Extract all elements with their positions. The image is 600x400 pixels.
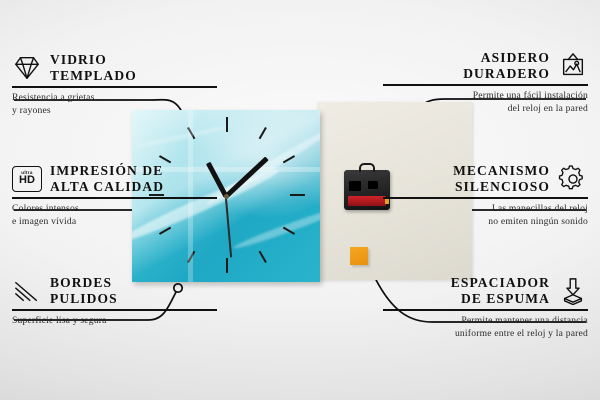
feature-vidrio-templado: VIDRIO TEMPLADO Resistencia a grietas y …	[12, 52, 217, 118]
infographic-canvas: VIDRIO TEMPLADO Resistencia a grietas y …	[0, 0, 600, 400]
feature-title: IMPRESIÓN DE ALTA CALIDAD	[50, 163, 164, 194]
feature-desc-line1: Superficie lisa y segura	[12, 315, 217, 328]
feature-desc-line1: Colores intensos	[12, 203, 217, 216]
foam-spacer-piece	[350, 247, 368, 265]
feature-description: Resistencia a grietas y rayones	[12, 92, 217, 118]
feature-title: MECANISMO SILENCIOSO	[453, 163, 550, 194]
movement-hanger	[359, 163, 375, 172]
clock-tick	[226, 117, 228, 132]
feature-description: Las manecillas del reloj no emiten ningú…	[383, 203, 588, 229]
feature-desc-line1: Permite una fácil instalación	[383, 90, 588, 103]
polished-edges-icon	[12, 277, 42, 305]
feature-title-line2: DE ESPUMA	[451, 291, 550, 307]
feature-header: VIDRIO TEMPLADO	[12, 52, 217, 83]
feature-description: Superficie lisa y segura	[12, 315, 217, 328]
feature-title-line1: ASIDERO	[463, 50, 550, 66]
feature-header: ASIDERO DURADERO	[383, 50, 588, 81]
feature-desc-line1: Resistencia a grietas	[12, 92, 217, 105]
feather-streak	[136, 124, 229, 148]
feature-mecanismo-silencioso: MECANISMO SILENCIOSO Las manecillas del …	[383, 163, 588, 229]
movement-slot-a	[349, 181, 361, 191]
feature-description: Permite mantener una distancia uniforme …	[383, 315, 588, 341]
hanging-frame-icon	[558, 52, 588, 80]
feature-desc-line2: no emiten ningún sonido	[383, 216, 588, 229]
feature-title-line2: DURADERO	[463, 66, 550, 82]
feature-impresion-alta-calidad: ultra HD IMPRESIÓN DE ALTA CALIDAD Color…	[12, 163, 217, 229]
feature-divider	[12, 197, 217, 199]
feature-bordes-pulidos: BORDES PULIDOS Superficie lisa y segura	[12, 275, 217, 328]
feature-divider	[383, 197, 588, 199]
gear-icon	[558, 165, 588, 193]
feature-divider	[383, 309, 588, 311]
feature-desc-line2: uniforme entre el reloj y la pared	[383, 328, 588, 341]
feature-title-line1: MECANISMO	[453, 163, 550, 179]
feature-title-line2: ALTA CALIDAD	[50, 179, 164, 195]
feature-title-line2: PULIDOS	[50, 291, 118, 307]
clock-tick	[290, 194, 305, 196]
feature-desc-line1: Las manecillas del reloj	[383, 203, 588, 216]
feature-desc-line2: y rayones	[12, 105, 217, 118]
feature-title: BORDES PULIDOS	[50, 275, 118, 306]
foam-spacer-icon	[558, 277, 588, 305]
feature-header: MECANISMO SILENCIOSO	[383, 163, 588, 194]
feature-header: ultra HD IMPRESIÓN DE ALTA CALIDAD	[12, 163, 217, 194]
feature-title-line2: TEMPLADO	[50, 68, 137, 84]
feature-desc-line2: del reloj en la pared	[383, 103, 588, 116]
ultra-hd-badge-icon: ultra HD	[12, 166, 42, 192]
feature-asidero-duradero: ASIDERO DURADERO Permite una fácil insta…	[383, 50, 588, 116]
feature-title-line1: VIDRIO	[50, 52, 137, 68]
feature-description: Colores intensos e imagen vívida	[12, 203, 217, 229]
feather-streak	[232, 204, 320, 251]
feature-title-line1: IMPRESIÓN DE	[50, 163, 164, 179]
clock-tick	[259, 127, 267, 139]
clock-center-pin	[224, 194, 229, 199]
feature-title: VIDRIO TEMPLADO	[50, 52, 137, 83]
clock-tick	[259, 251, 267, 263]
feature-description: Permite una fácil instalación del reloj …	[383, 90, 588, 116]
diamond-icon	[12, 54, 42, 82]
clock-tick	[226, 258, 228, 273]
feature-espaciador-de-espuma: ESPACIADOR DE ESPUMA Permite mantener un…	[383, 275, 588, 341]
feature-header: ESPACIADOR DE ESPUMA	[383, 275, 588, 306]
feature-title-line1: ESPACIADOR	[451, 275, 550, 291]
feature-title-line1: BORDES	[50, 275, 118, 291]
feature-desc-line1: Permite mantener una distancia	[383, 315, 588, 328]
feature-desc-line2: e imagen vívida	[12, 216, 217, 229]
clock-tick	[187, 251, 195, 263]
battery	[348, 196, 386, 206]
feature-title-line2: SILENCIOSO	[453, 179, 550, 195]
feature-divider	[383, 84, 588, 86]
feature-divider	[12, 309, 217, 311]
feature-divider	[12, 86, 217, 88]
movement-slot-b	[368, 181, 378, 189]
badge-large-text: HD	[19, 175, 35, 186]
feature-title: ESPACIADOR DE ESPUMA	[451, 275, 550, 306]
feature-header: BORDES PULIDOS	[12, 275, 217, 306]
feature-title: ASIDERO DURADERO	[463, 50, 550, 81]
clock-second-hand	[225, 196, 232, 258]
